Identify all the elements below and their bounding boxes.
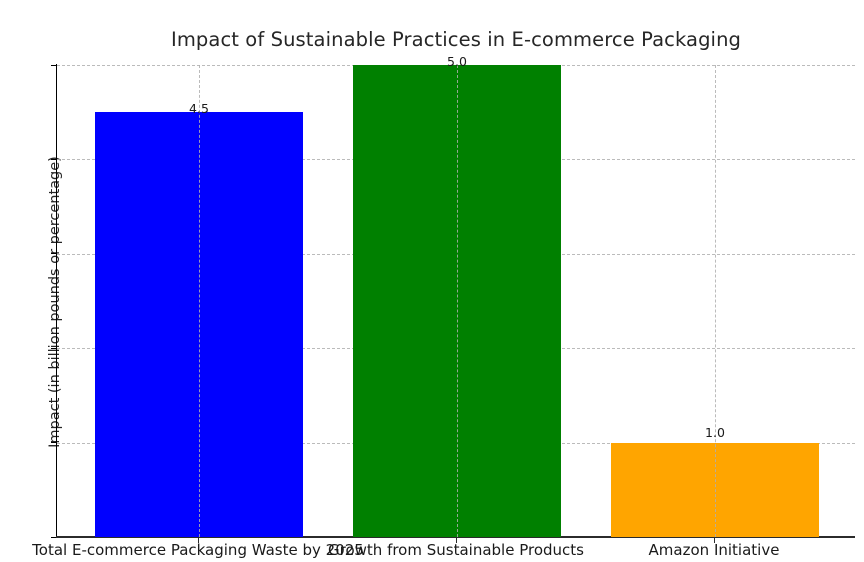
chart-figure: Impact of Sustainable Practices in E-com… [0,0,864,562]
gridline-x-1 [457,65,458,537]
x-tick-label-growth-from-sustainable-products: Growth from Sustainable Products [268,541,644,559]
chart-title: Impact of Sustainable Practices in E-com… [57,28,855,51]
bar-value-label-0: 4.5 [159,101,239,116]
bar-value-label-2: 1.0 [675,425,755,440]
x-tick-label-amazon-initiative: Amazon Initiative [594,541,834,559]
gridline-x-0 [199,65,200,537]
plot-area: 4.5 5.0 1.0 [57,65,855,537]
bar-value-label-1: 5.0 [417,54,497,69]
gridline-x-2 [715,65,716,537]
